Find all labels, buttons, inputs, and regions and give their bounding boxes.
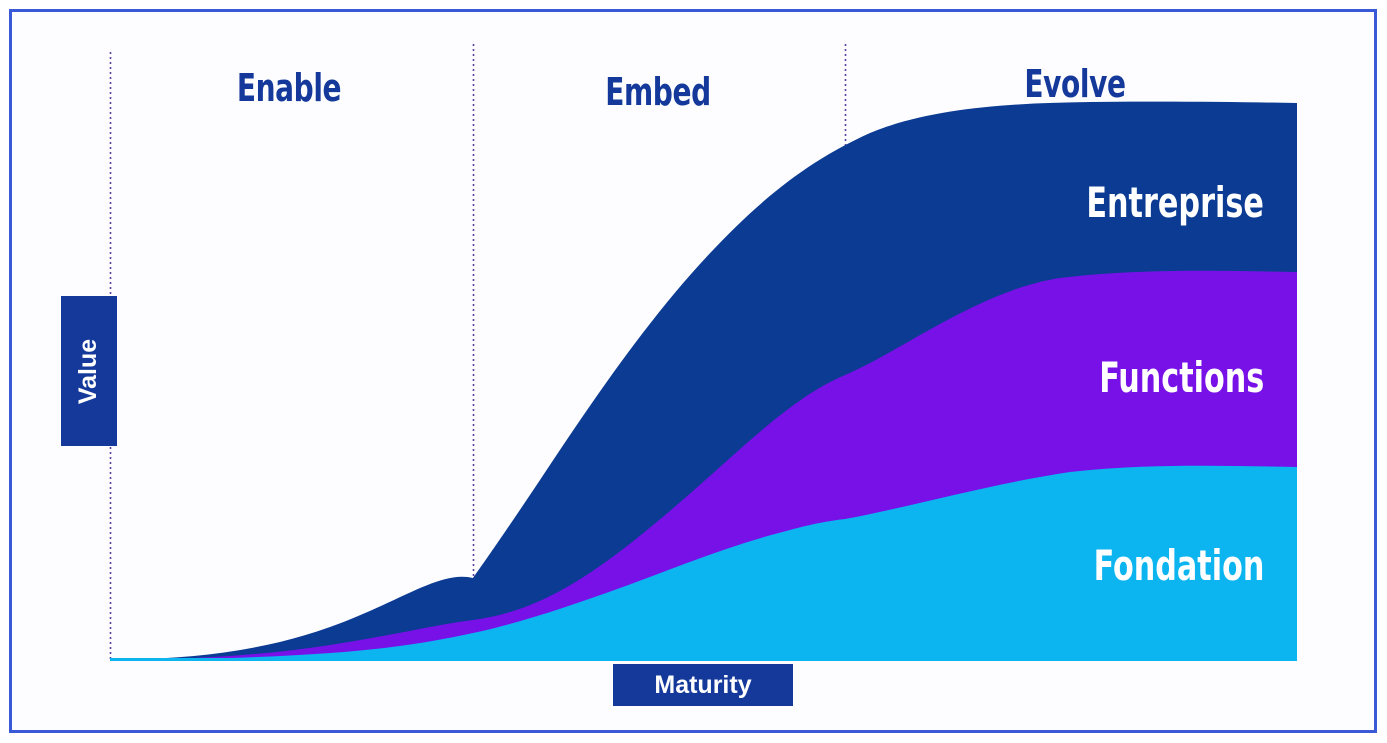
band-label-fondation: Fondation bbox=[1093, 541, 1264, 590]
chart-baseline bbox=[110, 658, 1297, 661]
chart-stage: Enable Embed Evolve Entreprise Functions… bbox=[0, 0, 1387, 743]
x-axis-title-text: Maturity bbox=[654, 671, 751, 700]
band-label-entreprise: Entreprise bbox=[1087, 178, 1264, 227]
band-label-functions: Functions bbox=[1099, 353, 1264, 402]
y-axis-title-plate: Value bbox=[61, 296, 117, 446]
y-axis-title-text: Value bbox=[75, 338, 104, 403]
phase-label-enable: Enable bbox=[207, 66, 371, 110]
x-axis-title-plate: Maturity bbox=[613, 664, 793, 706]
phase-label-evolve: Evolve bbox=[993, 62, 1157, 106]
chart-page: Enable Embed Evolve Entreprise Functions… bbox=[0, 0, 1387, 743]
phase-label-embed: Embed bbox=[576, 70, 740, 114]
